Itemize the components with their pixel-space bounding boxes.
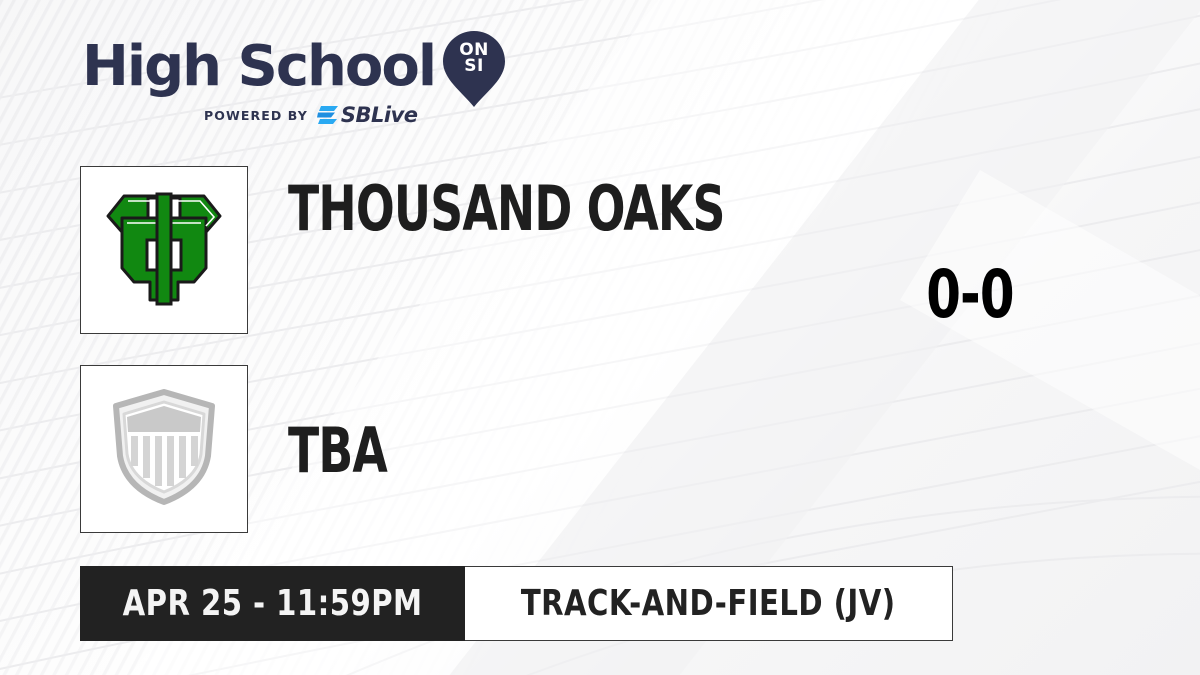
scoreboard-graphic: High School ON SI POWERED BY SBL — [0, 0, 1200, 675]
brand-wordmark: High School — [82, 37, 435, 97]
pin-line-si: SI — [443, 58, 505, 74]
brand-wordmark-row: High School ON SI — [82, 34, 512, 100]
team-logo-box-2 — [80, 365, 248, 533]
sblive-s-mark-icon — [317, 105, 339, 125]
game-info-bar: APR 25 - 11:59PM TRACK-AND-FIELD (JV) — [80, 566, 953, 641]
game-datetime-label: APR 25 - 11:59PM — [123, 583, 423, 624]
to-monogram-logo — [102, 184, 226, 317]
powered-by-label: POWERED BY — [204, 108, 308, 123]
score-display: 0-0 — [878, 260, 1063, 330]
sblive-wordmark: SBLive — [341, 105, 418, 126]
placeholder-shield-logo — [109, 388, 219, 511]
team-name-2: TBA — [288, 420, 387, 482]
team-name-1: THOUSAND OAKS — [288, 178, 725, 240]
on-si-pin-icon: ON SI — [443, 31, 505, 107]
powered-by-row: POWERED BY SBLive — [82, 104, 512, 126]
game-sport-label: TRACK-AND-FIELD (JV) — [521, 583, 896, 624]
game-datetime-block: APR 25 - 11:59PM — [80, 566, 465, 641]
brand-logo: High School ON SI POWERED BY SBL — [82, 34, 512, 134]
game-sport-block: TRACK-AND-FIELD (JV) — [465, 566, 953, 641]
on-si-pin-label: ON SI — [443, 42, 505, 74]
team-logo-box-1 — [80, 166, 248, 334]
